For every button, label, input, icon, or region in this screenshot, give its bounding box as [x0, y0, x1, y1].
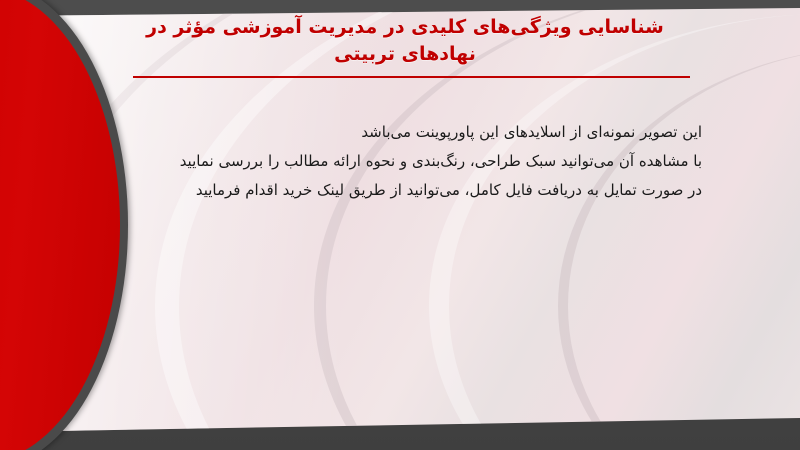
page-title: شناسایی ویژگی‌های کلیدی در مدیریت آموزشی…: [120, 14, 690, 68]
body-line-1: این تصویر نمونه‌ای از اسلایدهای این پاور…: [120, 118, 702, 147]
body-line-3: در صورت تمایل به دریافت فایل کامل، می‌تو…: [120, 176, 702, 205]
body-line-2: با مشاهده آن می‌توانید سبک طراحی، رنگ‌بن…: [120, 147, 702, 176]
title-block: شناسایی ویژگی‌های کلیدی در مدیریت آموزشی…: [120, 14, 690, 68]
title-divider: [133, 76, 690, 78]
presentation-slide: شناسایی ویژگی‌های کلیدی در مدیریت آموزشی…: [0, 0, 800, 450]
body-text-block: این تصویر نمونه‌ای از اسلایدهای این پاور…: [120, 118, 702, 204]
